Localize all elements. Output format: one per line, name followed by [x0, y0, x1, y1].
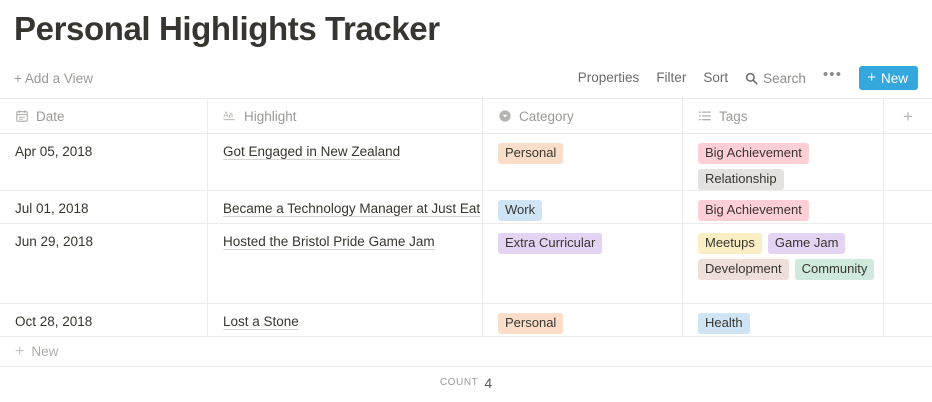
column-header-highlight[interactable]: Aa Highlight [208, 99, 483, 133]
count-bar[interactable]: Count 4 [0, 367, 932, 398]
highlight-value[interactable]: Lost a Stone [223, 314, 299, 329]
new-button-label: New [881, 71, 908, 86]
filter-button[interactable]: Filter [656, 69, 686, 87]
table-row[interactable]: Jun 29, 2018 Hosted the Bristol Pride Ga… [0, 224, 932, 304]
page-title: Personal Highlights Tracker [0, 0, 932, 49]
tag-group: Health [698, 313, 883, 334]
tag[interactable]: Work [498, 200, 542, 221]
table-header-row: Date Aa Highlight Category [0, 99, 932, 134]
database-table: Date Aa Highlight Category [0, 98, 932, 337]
more-options-icon[interactable]: ••• [823, 71, 842, 79]
new-row-button[interactable]: + New [0, 337, 932, 367]
column-header-label: Highlight [244, 109, 297, 124]
toolbar-actions: Properties Filter Sort Search ••• + New [578, 66, 918, 90]
cell-tags[interactable]: Big Achievement Relationship [683, 134, 884, 190]
cell-category[interactable]: Personal [483, 134, 683, 190]
tag[interactable]: Personal [498, 313, 563, 334]
cell-date[interactable]: Jun 29, 2018 [0, 224, 208, 303]
count-label: Count [440, 377, 479, 388]
tag[interactable]: Development [698, 259, 789, 280]
date-value: Jul 01, 2018 [15, 201, 89, 216]
row-end-spacer [884, 134, 932, 190]
cell-tags[interactable]: Big Achievement [683, 191, 884, 223]
row-end-spacer [884, 191, 932, 223]
tag-group: Meetups Game Jam Development Community [698, 233, 883, 280]
new-row-label: New [31, 344, 58, 359]
tag-group: Work [498, 200, 682, 221]
view-toolbar: + Add a View Properties Filter Sort Sear… [0, 58, 932, 98]
highlight-value[interactable]: Became a Technology Manager at Just Eat [223, 201, 480, 216]
tag-group: Personal [498, 313, 682, 334]
highlight-value[interactable]: Got Engaged in New Zealand [223, 144, 400, 159]
cell-highlight[interactable]: Got Engaged in New Zealand [208, 134, 483, 190]
tag[interactable]: Personal [498, 143, 563, 164]
cell-highlight[interactable]: Became a Technology Manager at Just Eat [208, 191, 483, 223]
column-header-label: Category [519, 109, 574, 124]
table-row[interactable]: Apr 05, 2018 Got Engaged in New Zealand … [0, 134, 932, 191]
add-column-button[interactable]: + [884, 99, 932, 133]
table-row[interactable]: Jul 01, 2018 Became a Technology Manager… [0, 191, 932, 224]
cell-date[interactable]: Apr 05, 2018 [0, 134, 208, 190]
row-end-spacer [884, 304, 932, 336]
column-header-label: Tags [719, 109, 748, 124]
search-button[interactable]: Search [745, 71, 806, 86]
date-value: Jun 29, 2018 [15, 234, 93, 249]
tag-group: Extra Curricular [498, 233, 682, 254]
tag-group: Big Achievement Relationship [698, 143, 883, 190]
plus-icon: + [867, 71, 876, 85]
column-header-category[interactable]: Category [483, 99, 683, 133]
tag[interactable]: Big Achievement [698, 200, 809, 221]
tag-group: Big Achievement [698, 200, 883, 221]
row-end-spacer [884, 224, 932, 303]
column-header-label: Date [36, 109, 65, 124]
multi-select-list-icon [698, 109, 712, 123]
plus-icon: + [903, 108, 913, 125]
new-button[interactable]: + New [859, 66, 918, 90]
date-value: Apr 05, 2018 [15, 144, 92, 159]
date-value: Oct 28, 2018 [15, 314, 92, 329]
select-circle-icon [498, 109, 512, 123]
tag[interactable]: Big Achievement [698, 143, 809, 164]
cell-date[interactable]: Oct 28, 2018 [0, 304, 208, 336]
cell-highlight[interactable]: Lost a Stone [208, 304, 483, 336]
sort-button[interactable]: Sort [703, 69, 728, 87]
tag[interactable]: Health [698, 313, 750, 334]
cell-category[interactable]: Work [483, 191, 683, 223]
cell-category[interactable]: Personal [483, 304, 683, 336]
tag-group: Personal [498, 143, 682, 164]
search-label: Search [763, 71, 806, 86]
plus-icon: + [15, 344, 24, 359]
add-view-button[interactable]: + Add a View [14, 71, 93, 86]
column-header-date[interactable]: Date [0, 99, 208, 133]
cell-date[interactable]: Jul 01, 2018 [0, 191, 208, 223]
tag[interactable]: Meetups [698, 233, 762, 254]
text-aa-icon: Aa [223, 109, 237, 123]
tag[interactable]: Relationship [698, 169, 784, 190]
tag[interactable]: Extra Curricular [498, 233, 602, 254]
cell-category[interactable]: Extra Curricular [483, 224, 683, 303]
properties-button[interactable]: Properties [578, 69, 640, 87]
cell-tags[interactable]: Meetups Game Jam Development Community [683, 224, 884, 303]
calendar-icon [15, 109, 29, 123]
column-header-tags[interactable]: Tags [683, 99, 884, 133]
search-icon [745, 72, 758, 85]
count-value: 4 [484, 375, 492, 391]
table-row[interactable]: Oct 28, 2018 Lost a Stone Personal Healt… [0, 304, 932, 336]
cell-highlight[interactable]: Hosted the Bristol Pride Game Jam [208, 224, 483, 303]
cell-tags[interactable]: Health [683, 304, 884, 336]
svg-text:Aa: Aa [223, 110, 233, 119]
tag[interactable]: Community [795, 259, 875, 280]
tag[interactable]: Game Jam [768, 233, 846, 254]
highlight-value[interactable]: Hosted the Bristol Pride Game Jam [223, 234, 435, 249]
